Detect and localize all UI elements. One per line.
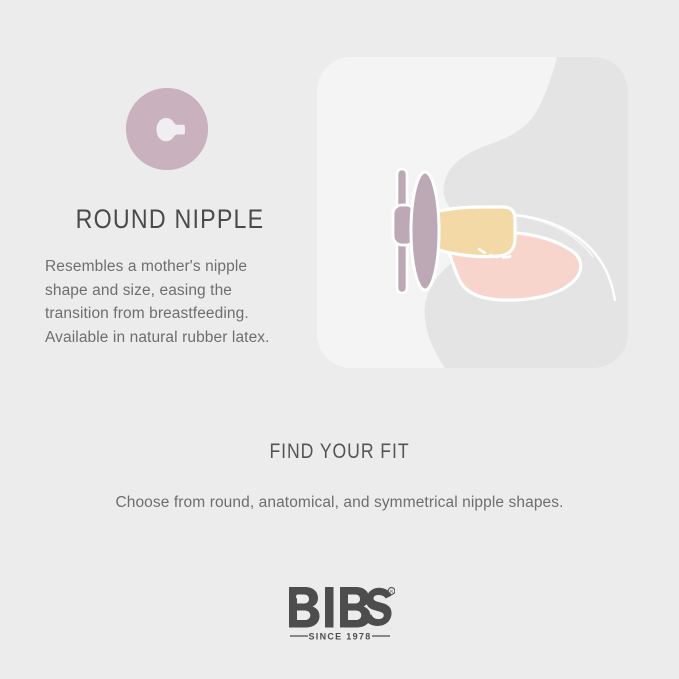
brand-logo-block: R SINCE 1978 [0, 585, 679, 648]
bibs-logo: R SINCE 1978 [285, 585, 395, 643]
svg-text:SINCE 1978: SINCE 1978 [308, 632, 371, 642]
top-section: ROUND NIPPLE Resembles a mother's nipple… [0, 0, 679, 390]
find-your-fit-heading: FIND YOUR FIT [54, 440, 624, 464]
round-nipple-shape-icon [126, 88, 208, 170]
find-your-fit-subtitle: Choose from round, anatomical, and symme… [0, 494, 679, 512]
infographic-page: ROUND NIPPLE Resembles a mother's nipple… [0, 0, 679, 679]
feature-column: ROUND NIPPLE Resembles a mother's nipple… [45, 88, 295, 349]
feature-title: ROUND NIPPLE [63, 204, 278, 235]
feature-description: Resembles a mother's nipple shape and si… [45, 255, 290, 349]
find-your-fit-block: FIND YOUR FIT Choose from round, anatomi… [0, 440, 679, 512]
illustration-panel [317, 57, 628, 368]
svg-text:R: R [389, 589, 392, 594]
